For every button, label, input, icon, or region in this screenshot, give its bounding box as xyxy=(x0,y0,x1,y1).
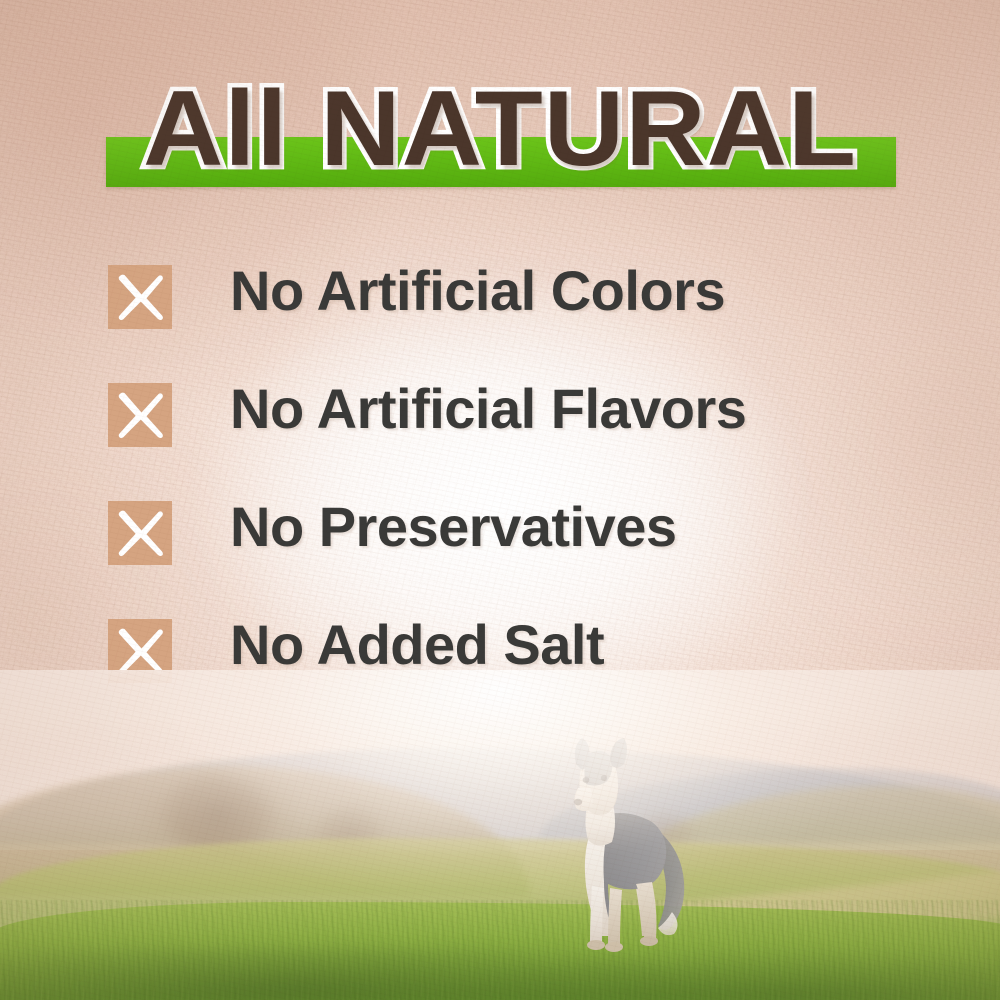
feature-list: No Artificial Colors No Artificial Flavo… xyxy=(0,258,1000,730)
list-item: No Preservatives xyxy=(0,494,1000,612)
all-natural-poster: All NATURAL No Artificial Colors No Arti… xyxy=(0,0,1000,1000)
page-title: All NATURAL xyxy=(0,72,1000,184)
x-mark-icon xyxy=(108,265,172,329)
landscape-photo xyxy=(0,670,1000,1000)
list-item-label: No Artificial Colors xyxy=(230,258,725,324)
x-mark-icon xyxy=(108,383,172,447)
list-item: No Artificial Colors xyxy=(0,258,1000,376)
list-item: No Artificial Flavors xyxy=(0,376,1000,494)
list-item-label: No Preservatives xyxy=(230,494,677,560)
list-item-label: No Artificial Flavors xyxy=(230,376,746,442)
x-mark-icon xyxy=(108,501,172,565)
grass-shadow xyxy=(0,946,1000,1000)
dog-photo xyxy=(532,736,710,968)
list-item-label: No Added Salt xyxy=(230,612,604,678)
headline-banner: All NATURAL xyxy=(0,72,1000,194)
